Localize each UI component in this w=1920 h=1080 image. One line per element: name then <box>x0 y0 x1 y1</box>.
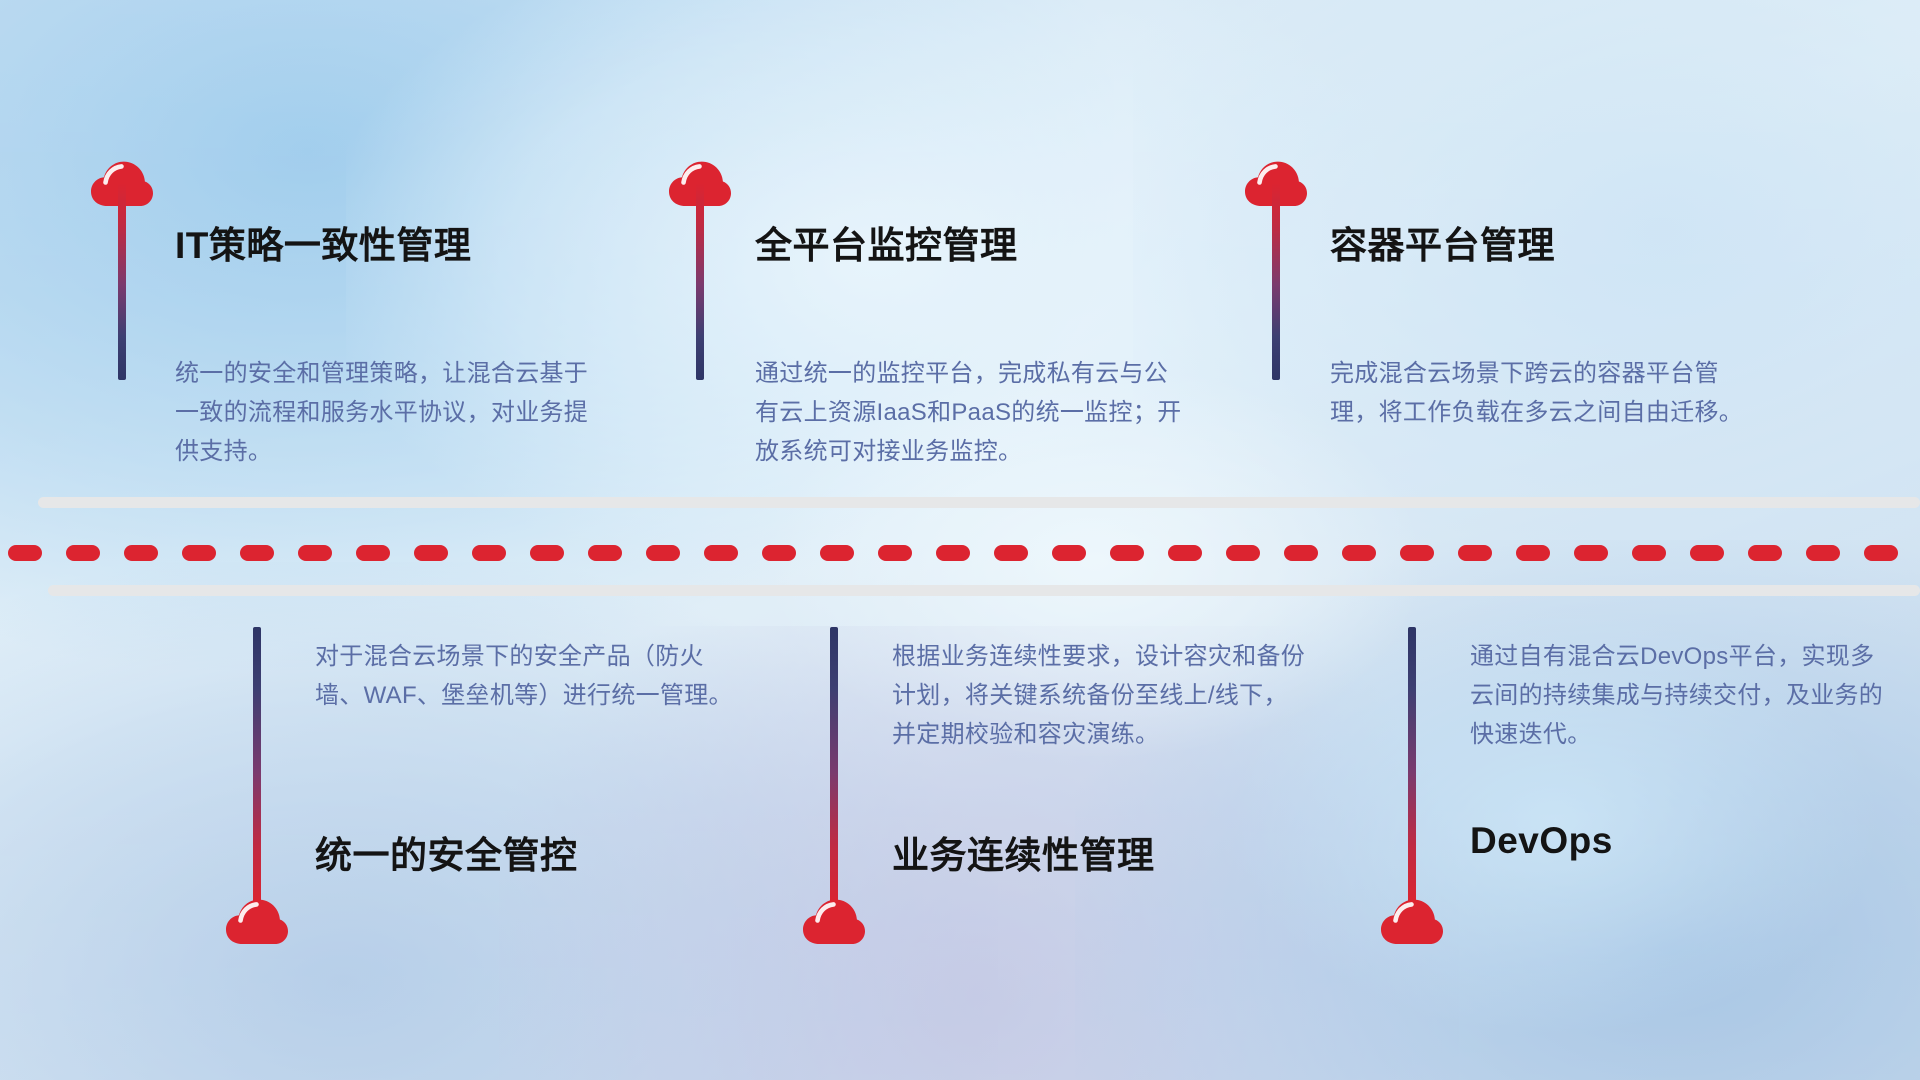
connector-bar <box>830 627 838 907</box>
divider-dash <box>356 545 390 561</box>
item-title: 容器平台管理 <box>1330 215 1555 269</box>
divider-dash <box>8 545 42 561</box>
item-paragraph: 完成混合云场景下跨云的容器平台管理，将工作负载在多云之间自由迁移。 <box>1330 355 1760 433</box>
divider-dash <box>1052 545 1086 561</box>
connector-bar <box>253 627 261 907</box>
divider-dash <box>1168 545 1202 561</box>
divider-dash <box>1284 545 1318 561</box>
divider-dash <box>1632 545 1666 561</box>
item-title: 业务连续性管理 <box>892 825 1155 879</box>
divider-dash <box>1806 545 1840 561</box>
item-title: DevOps <box>1470 820 1613 862</box>
divider-dash <box>878 545 912 561</box>
divider-dash <box>1226 545 1260 561</box>
item-title: 全平台监控管理 <box>755 215 1018 269</box>
divider-dash <box>1690 545 1724 561</box>
connector-bar <box>118 183 126 380</box>
cloud-icon <box>225 898 289 946</box>
divider-dash <box>704 545 738 561</box>
divider-dash <box>472 545 506 561</box>
item-paragraph: 通过自有混合云DevOps平台，实现多云间的持续集成与持续交付，及业务的快速迭代… <box>1470 638 1890 755</box>
divider-dash <box>1574 545 1608 561</box>
connector-bar <box>1272 183 1280 380</box>
item-paragraph: 统一的安全和管理策略，让混合云基于一致的流程和服务水平协议，对业务提供支持。 <box>175 355 605 472</box>
divider-dash <box>820 545 854 561</box>
divider-dash <box>1458 545 1492 561</box>
divider-dash <box>994 545 1028 561</box>
infographic-canvas: IT策略一致性管理 统一的安全和管理策略，让混合云基于一致的流程和服务水平协议，… <box>0 0 1920 1080</box>
divider-dash <box>1110 545 1144 561</box>
connector-bar <box>1408 627 1416 907</box>
item-paragraph: 根据业务连续性要求，设计容灾和备份计划，将关键系统备份至线上/线下，并定期校验和… <box>892 638 1312 755</box>
item-paragraph: 通过统一的监控平台，完成私有云与公有云上资源IaaS和PaaS的统一监控；开放系… <box>755 355 1185 472</box>
item-paragraph: 对于混合云场景下的安全产品（防火墙、WAF、堡垒机等）进行统一管理。 <box>315 638 735 716</box>
divider-dash <box>530 545 564 561</box>
divider-dash <box>762 545 796 561</box>
cloud-icon <box>802 898 866 946</box>
item-title: 统一的安全管控 <box>315 825 578 879</box>
divider-dash <box>588 545 622 561</box>
divider-dash <box>1864 545 1898 561</box>
divider-dash <box>182 545 216 561</box>
divider-dash <box>1342 545 1376 561</box>
dashed-divider-line <box>0 545 1920 561</box>
divider-dash <box>936 545 970 561</box>
divider-dash <box>66 545 100 561</box>
divider-dash <box>124 545 158 561</box>
divider-band-top <box>38 497 1920 508</box>
divider-band-bottom <box>48 585 1920 596</box>
divider-dash <box>414 545 448 561</box>
item-title: IT策略一致性管理 <box>175 215 471 269</box>
divider-dash <box>298 545 332 561</box>
divider-dash <box>1748 545 1782 561</box>
connector-bar <box>696 183 704 380</box>
divider-dash <box>646 545 680 561</box>
divider-dash <box>1516 545 1550 561</box>
cloud-icon <box>1380 898 1444 946</box>
divider-dash <box>1400 545 1434 561</box>
divider-dash <box>240 545 274 561</box>
